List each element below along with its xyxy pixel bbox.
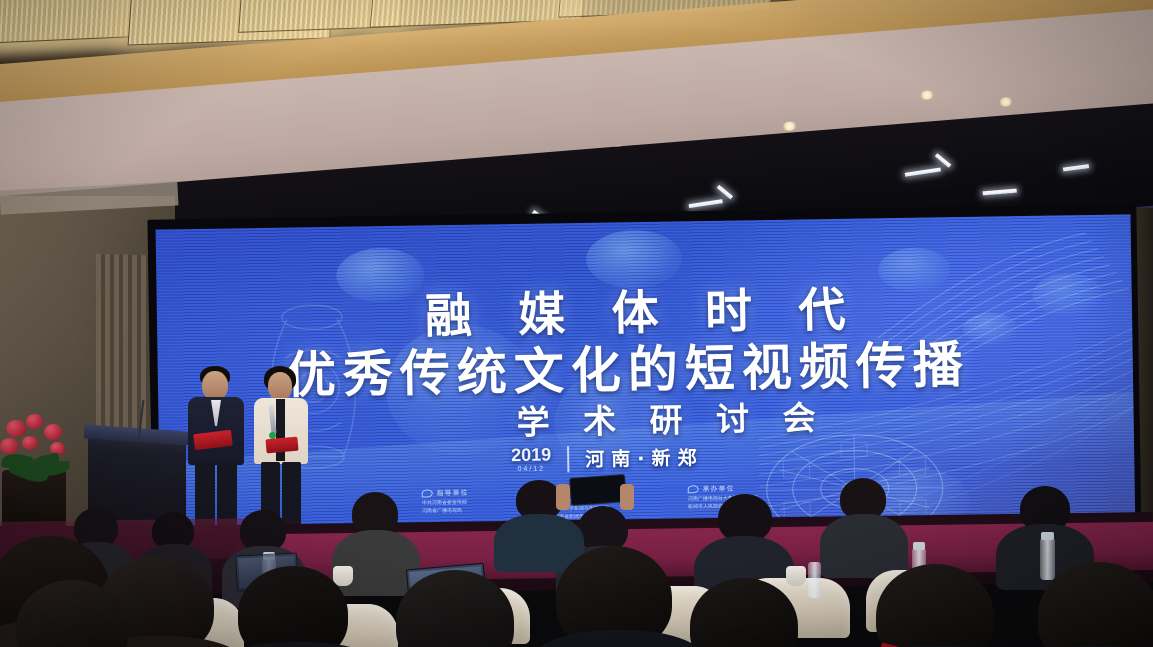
bottle-cap xyxy=(913,542,925,550)
water-bottle xyxy=(1040,538,1055,580)
water-bottle xyxy=(808,562,821,598)
stage-light xyxy=(1063,164,1089,171)
screen-date-location-row: 2019 04/12 河南·新郑 xyxy=(511,443,704,473)
downlight xyxy=(998,97,1014,107)
screen-title-line-3: 学 术 研 讨 会 xyxy=(516,391,827,444)
host-head xyxy=(268,372,292,400)
red-cue-card xyxy=(265,437,298,454)
downlight xyxy=(781,121,798,131)
smartphone xyxy=(569,474,627,506)
audience-area: 林 xyxy=(0,470,1153,647)
bottle-cap xyxy=(1041,532,1054,540)
downlight xyxy=(919,90,935,100)
raised-hand xyxy=(556,484,570,510)
conference-photo-scene: 融 媒 体 时 代 优秀传统文化的短视频传播 学 术 研 讨 会 2019 04… xyxy=(0,0,1153,647)
host-head xyxy=(202,371,228,400)
meta-divider xyxy=(567,446,569,472)
screen-location: 河南·新郑 xyxy=(585,443,704,472)
tea-cup xyxy=(786,566,806,586)
tea-cup xyxy=(333,566,353,586)
raised-hand xyxy=(620,484,634,510)
screen-year: 2019 xyxy=(511,445,551,464)
